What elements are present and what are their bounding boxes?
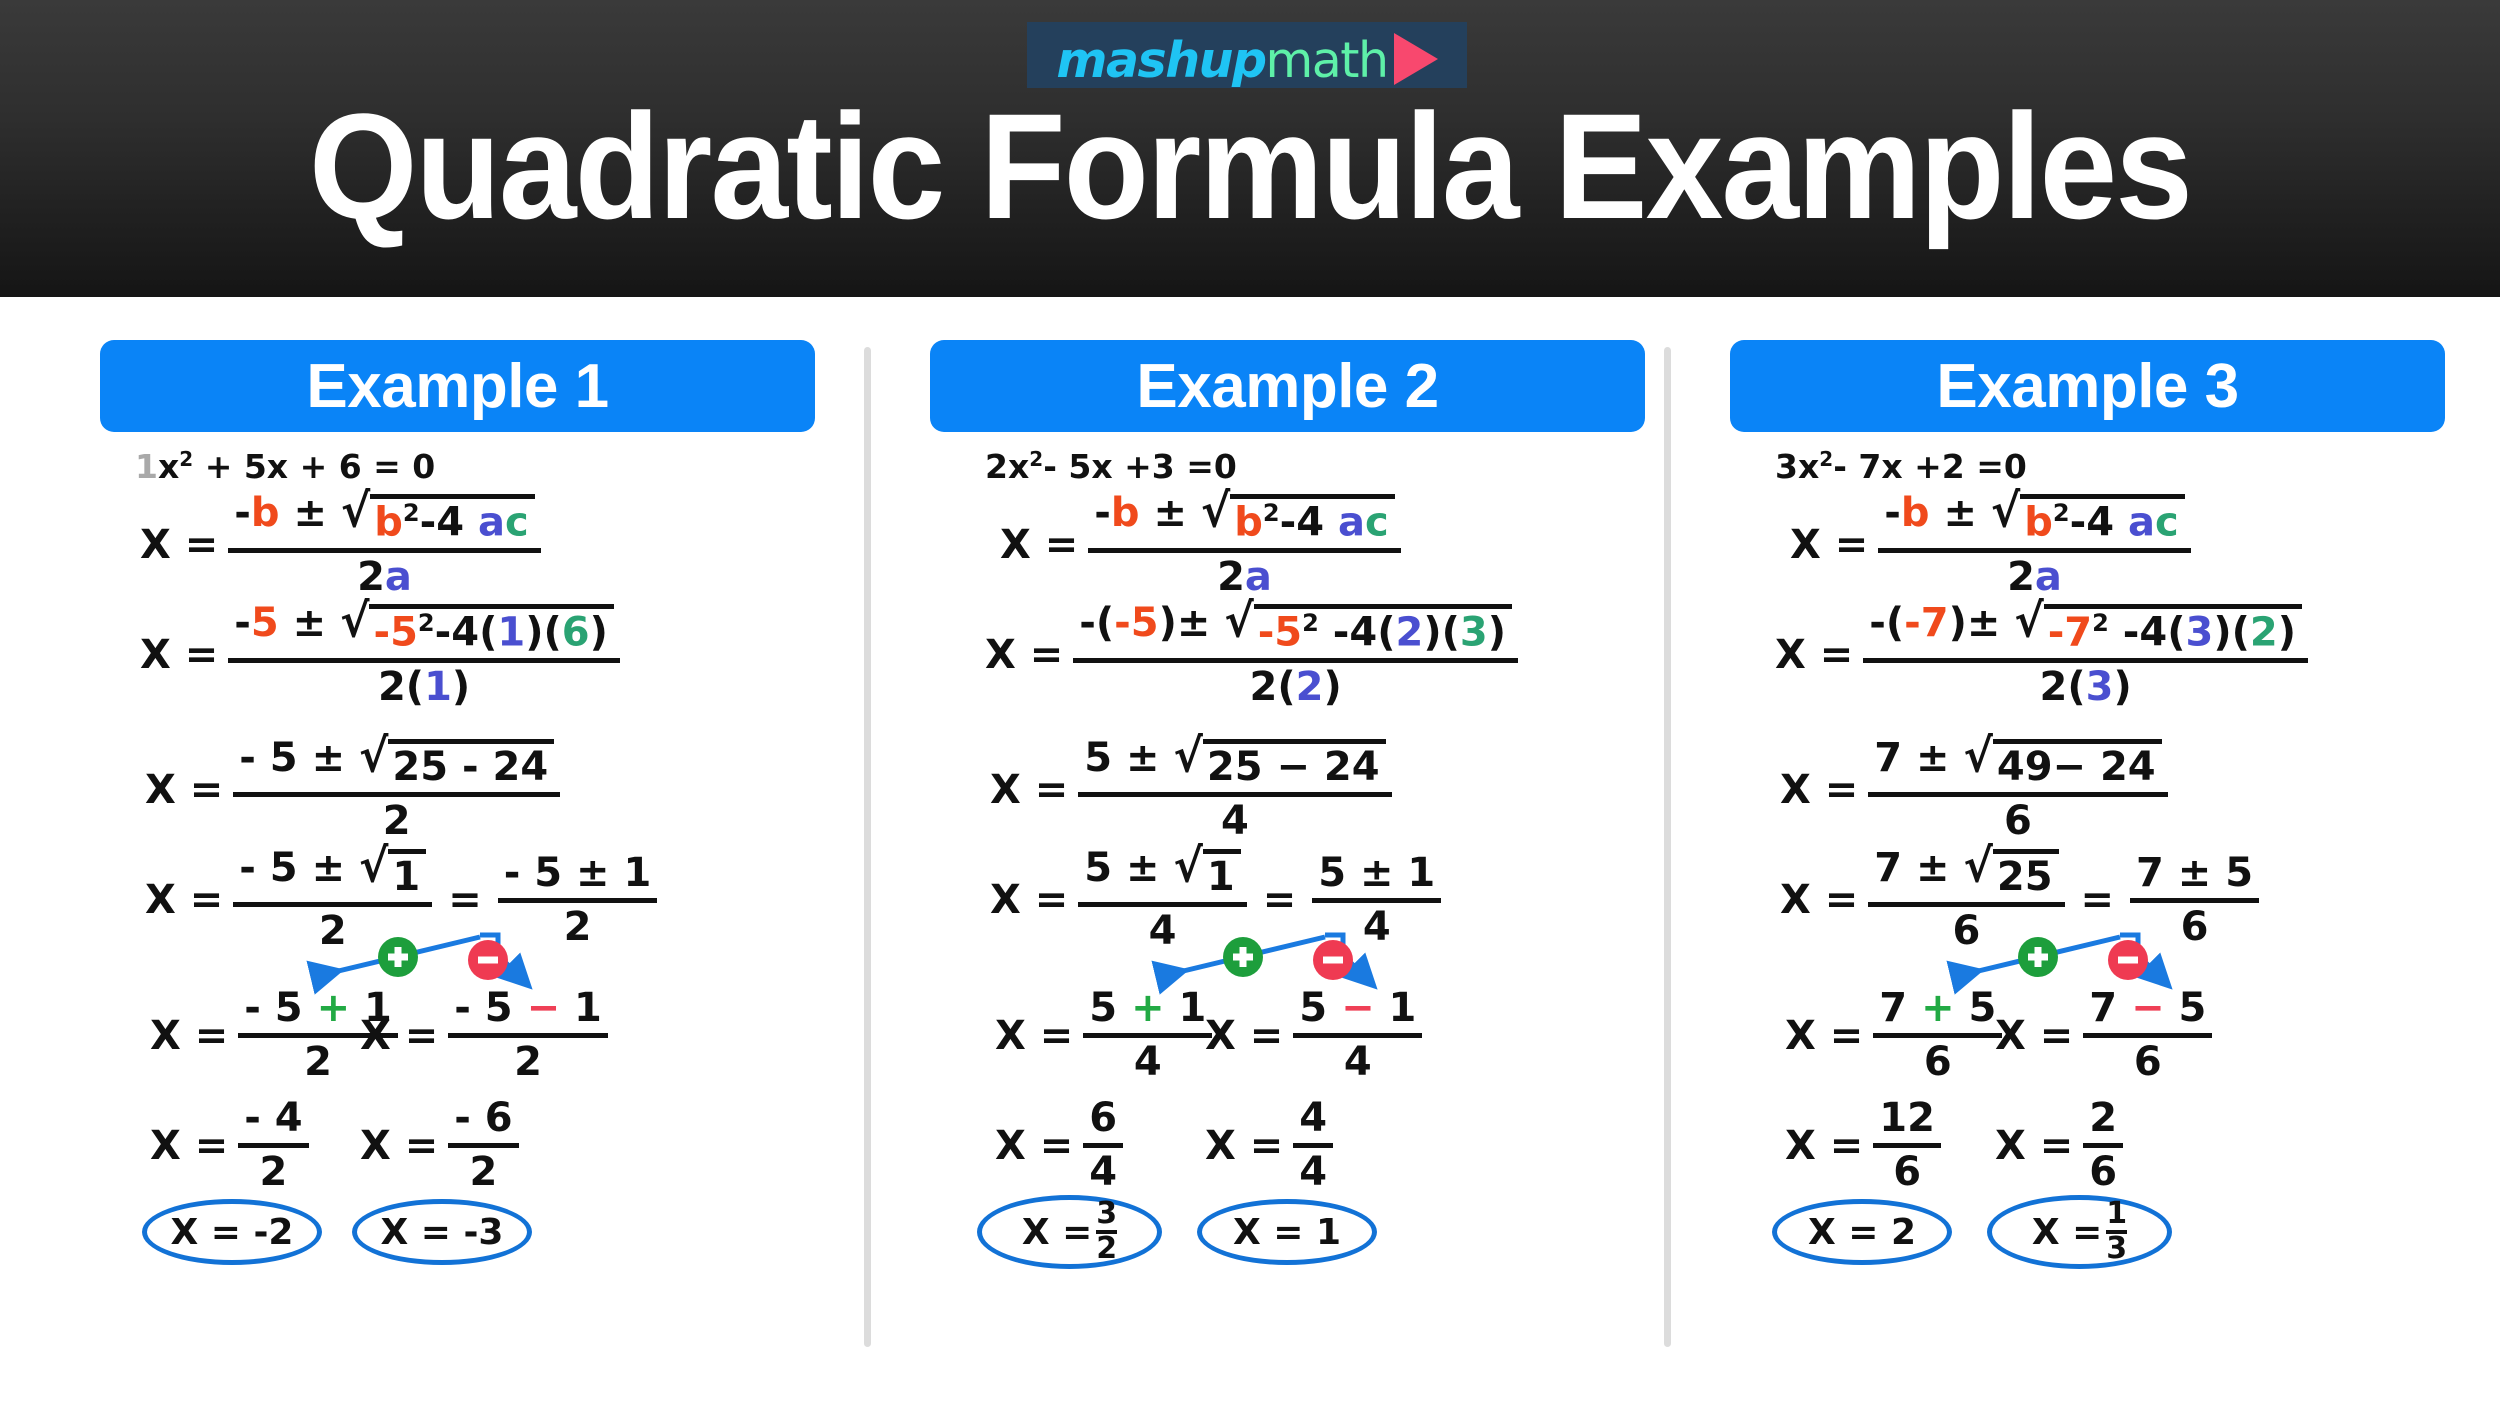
sub-rad-minus: -: [2123, 609, 2140, 655]
reduce-minus-numerator: 4: [1293, 1097, 1333, 1143]
simplify2-numerator: 5 ± 1: [1312, 852, 1441, 898]
reduce-minus-fraction: - 6 2: [448, 1097, 518, 1194]
discriminant-numerator: 7 ± √49− 24: [1868, 737, 2167, 792]
rad-var-c: c: [2155, 499, 2179, 545]
answer-plus-fraction: 3 2: [1096, 1199, 1117, 1264]
sub-den-close: ): [1324, 664, 1342, 710]
answer-minus-text: X = 1 3: [2032, 1199, 2127, 1264]
sub-den-a: 3: [2086, 664, 2114, 710]
square-root-icon: √49− 24: [1964, 737, 2162, 789]
simplify2-numerator: - 5 ± 1: [498, 852, 658, 898]
sub-den: 2(: [1250, 664, 1296, 710]
answer-frac-den: 2: [1096, 1234, 1117, 1265]
reduce-minus-numerator: 2: [2083, 1097, 2123, 1143]
example-3-formula-row: X = -b ± √b2-4 ac 2a: [1790, 492, 2191, 599]
simp-inner: 1: [1207, 854, 1235, 900]
sub-rad-sup: 2: [2092, 609, 2109, 637]
neg-sign: -: [234, 490, 251, 536]
formula-fraction: -b ± √b2-4 ac 2a: [228, 492, 540, 599]
example-3-reduce-minus: X = 2 6: [1995, 1097, 2123, 1194]
rad-var-b: b: [1234, 499, 1263, 545]
disc-pre: 5 ±: [1084, 735, 1159, 781]
coef-a: 3: [1775, 447, 1798, 486]
x-equals: X =: [1775, 632, 1853, 678]
x-term: x: [1008, 447, 1029, 486]
example-3-header[interactable]: Example 3: [1730, 340, 2445, 432]
simplify-fraction-right: - 5 ± 1 2: [498, 852, 658, 949]
simplify-fraction-left: 7 ± √25 6: [1868, 847, 2064, 953]
example-1-label: Example 1: [306, 351, 608, 422]
sub-close: ): [1949, 600, 1967, 646]
example-2-formula-row: X = -b ± √b2-4 ac 2a: [1000, 492, 1401, 599]
discriminant-fraction: 5 ± √25 − 24 4: [1078, 737, 1391, 843]
branch-minus-numerator: - 5 − 1: [448, 987, 608, 1033]
equation-rest: + 5x + 6 = 0: [205, 447, 436, 486]
plus-minus: ±: [1177, 600, 1211, 646]
var-b: b: [1111, 490, 1140, 536]
rad-minus: -: [2070, 499, 2087, 545]
sub-lead: -(: [1079, 600, 1114, 646]
example-1-answer-plus: X = -2: [142, 1199, 322, 1265]
discriminant-numerator: 5 ± √25 − 24: [1078, 737, 1391, 792]
simplify-fraction-left: 5 ± √1 4: [1078, 847, 1246, 953]
x-equals: X =: [1205, 1123, 1283, 1169]
disc-inner: 25 − 24: [1207, 744, 1380, 790]
substitute-denominator: 2(2): [1244, 663, 1348, 709]
sub-rad-close: ): [1488, 609, 1506, 655]
plus-minus: ±: [1943, 490, 1977, 536]
sub-den-a: 2: [1296, 664, 1324, 710]
reduce-plus-denominator: 2: [254, 1148, 294, 1194]
sub-rad-b: -7: [2048, 609, 2092, 655]
rad-four: 4: [1296, 499, 1324, 545]
branch-plus-numerator: 5 + 1: [1083, 987, 1212, 1033]
x-term: x: [158, 447, 179, 486]
example-3-substitute-row: X = -(-7)± √-72 -4(3)(2) 2(3): [1775, 602, 2308, 709]
example-2-reduce-plus: X = 6 4: [995, 1097, 1123, 1194]
example-2-reduce-minus: X = 4 4: [1205, 1097, 1333, 1194]
discriminant-fraction: - 5 ± √25 - 24 2: [233, 737, 560, 843]
branch-minus-fraction: 7 − 5 6: [2083, 987, 2212, 1084]
bp-a: 5: [1089, 985, 1117, 1031]
reduce-plus-numerator: 12: [1873, 1097, 1941, 1143]
discriminant-denominator: 2: [377, 797, 417, 843]
sub-rad-close: ): [2278, 609, 2296, 655]
disc-inner: 49− 24: [1997, 744, 2156, 790]
bp-op: +: [317, 985, 351, 1031]
x-equals: X =: [995, 1013, 1073, 1059]
x-term: x: [1798, 447, 1819, 486]
x-equals: X =: [145, 877, 223, 923]
example-2-equation: 2x2- 5x +3 =0: [985, 447, 1237, 486]
answer-plus-text: X = -2: [171, 1212, 294, 1253]
bm-a: - 5: [454, 985, 512, 1031]
rad-var-a: a: [1338, 499, 1365, 545]
square-root-icon: √1: [1174, 847, 1241, 899]
disc-pre: - 5 ±: [239, 735, 345, 781]
rad-exponent: 2: [1263, 499, 1280, 527]
discriminant-denominator: 6: [1998, 797, 2038, 843]
x-equals: X =: [1780, 767, 1858, 813]
sub-den-a: 1: [424, 664, 452, 710]
exponent: 2: [1819, 447, 1833, 471]
example-1-equation: 1x2 + 5x + 6 = 0: [135, 447, 435, 486]
bp-a: - 5: [244, 985, 302, 1031]
square-root-icon: √b2-4 ac: [1201, 492, 1395, 545]
x-equals: X =: [360, 1123, 438, 1169]
reduce-minus-numerator: - 6: [448, 1097, 518, 1143]
reduce-minus-fraction: 4 4: [1293, 1097, 1333, 1194]
x-equals: X =: [1995, 1123, 2073, 1169]
formula-denominator: 2a: [1211, 553, 1278, 599]
square-root-icon: √-52 -4(2)(3): [1224, 602, 1512, 655]
x-equals: X =: [985, 632, 1063, 678]
square-root-icon: √25 − 24: [1174, 737, 1386, 789]
reduce-plus-numerator: 6: [1083, 1097, 1123, 1143]
formula-numerator: -b ± √b2-4 ac: [1878, 492, 2190, 548]
sub-b-value: -5: [1114, 600, 1158, 646]
sub-rad-minus: -: [1333, 609, 1350, 655]
rad-var-c: c: [1365, 499, 1389, 545]
sub-rad-sup: 2: [418, 609, 435, 637]
example-3-label: Example 3: [1936, 351, 2238, 422]
branch-minus-denominator: 6: [2128, 1038, 2168, 1084]
plus-minus: ±: [1153, 490, 1187, 536]
sub-rad-a: 3: [2186, 609, 2214, 655]
example-1-reduce-plus: X = - 4 2: [150, 1097, 309, 1194]
plus-minus: ±: [1967, 600, 2001, 646]
logo-wordmark: mashupmath: [1056, 25, 1437, 85]
logo-mashup-text: mashup: [1056, 36, 1265, 85]
example-1-substitute-row: X = -5 ± √-52-4(1)(6) 2(1): [140, 602, 620, 709]
bm-op: −: [527, 985, 561, 1031]
example-2-simplify-row: X = 5 ± √1 4 = 5 ± 1 4: [990, 847, 1441, 953]
sub-rad-mid: )(: [1423, 609, 1460, 655]
equation-rest: - 5x +3 =0: [1043, 447, 1237, 486]
example-3-branch-minus: X = 7 − 5 6: [1995, 987, 2212, 1084]
x-equals: X =: [360, 1013, 438, 1059]
disc-inner: 25 - 24: [392, 744, 548, 790]
rad-minus: -: [1280, 499, 1297, 545]
sub-rad-mid: )(: [525, 609, 562, 655]
examples-container: Example 1 1x2 + 5x + 6 = 0 X = -b ± √b2-…: [0, 297, 2500, 1406]
substitute-fraction: -5 ± √-52-4(1)(6) 2(1): [228, 602, 620, 709]
sub-rad-sup: 2: [1302, 609, 1319, 637]
sub-rad-c: 3: [1460, 609, 1488, 655]
example-1-header[interactable]: Example 1: [100, 340, 815, 432]
simplify-denominator: 2: [313, 907, 353, 953]
sub-rad-close: ): [590, 609, 608, 655]
den-var-a: a: [385, 554, 412, 600]
logo-math-text: math: [1266, 36, 1388, 85]
square-root-icon: √1: [359, 847, 426, 899]
sub-b-value: -7: [1904, 600, 1948, 646]
bm-op: −: [2131, 985, 2165, 1031]
x-equals: X =: [140, 522, 218, 568]
reduce-plus-fraction: 6 4: [1083, 1097, 1123, 1194]
simplify-fraction-left: - 5 ± √1 2: [233, 847, 432, 953]
branch-minus-numerator: 5 − 1: [1293, 987, 1422, 1033]
bp-op: +: [1921, 985, 1955, 1031]
x-equals: X =: [1790, 522, 1868, 568]
formula-denominator: 2a: [2001, 553, 2068, 599]
exponent: 2: [1029, 447, 1043, 471]
reduce-plus-fraction: 12 6: [1873, 1097, 1941, 1194]
answer-minus-text: X = -3: [381, 1212, 504, 1253]
neg-sign: -: [1884, 490, 1901, 536]
example-2-branch-minus: X = 5 − 1 4: [1205, 987, 1422, 1084]
x-equals: X =: [150, 1123, 228, 1169]
simp-inner: 25: [1997, 854, 2053, 900]
sub-rad-minus: -: [435, 609, 452, 655]
branch-plus-fraction: 5 + 1 4: [1083, 987, 1212, 1084]
sub-den-close: ): [2114, 664, 2132, 710]
exponent: 2: [179, 447, 193, 471]
example-1-answer-minus: X = -3: [352, 1199, 532, 1265]
example-column-3: Example 3 3x2- 7x +2 =0 X = -b ± √b2-4 a…: [1690, 297, 2490, 1406]
example-2-branch-plus: X = 5 + 1 4: [995, 987, 1212, 1084]
equals-sign: =: [2081, 877, 2115, 923]
simplify2-numerator: 7 ± 5: [2130, 852, 2259, 898]
bp-a: 7: [1879, 985, 1907, 1031]
answer-frac-num: 1: [2106, 1199, 2127, 1230]
example-1-simplify-row: X = - 5 ± √1 2 = - 5 ± 1 2: [145, 847, 657, 953]
example-column-2: Example 2 2x2- 5x +3 =0 X = -b ± √b2-4 a…: [890, 297, 1690, 1406]
branch-minus-fraction: - 5 − 1 2: [448, 987, 608, 1084]
square-root-icon: √b2-4 ac: [1991, 492, 2185, 545]
neg-sign: -: [1094, 490, 1111, 536]
den-two: 2: [357, 554, 385, 600]
discriminant-fraction: 7 ± √49− 24 6: [1868, 737, 2167, 843]
answer-frac-den: 3: [2106, 1234, 2127, 1265]
simp-pre: - 5 ±: [239, 845, 345, 891]
play-triangle-icon: [1394, 33, 1438, 85]
rad-var-b: b: [374, 499, 403, 545]
plus-minus: ±: [293, 600, 327, 646]
simplify-numerator: 7 ± √25: [1868, 847, 2064, 902]
sub-rad-b: -5: [373, 609, 417, 655]
example-1-work: 1x2 + 5x + 6 = 0 X = -b ± √b2-4 ac 2a X …: [60, 447, 860, 1407]
discriminant-numerator: - 5 ± √25 - 24: [233, 737, 560, 792]
branch-plus-numerator: 7 + 5: [1873, 987, 2002, 1033]
answer-plus-label: X =: [1022, 1212, 1092, 1253]
example-3-discriminant-row: X = 7 ± √49− 24 6: [1780, 737, 2168, 843]
equation-rest: - 7x +2 =0: [1833, 447, 2027, 486]
sub-rad-mid: )(: [2213, 609, 2250, 655]
sub-rad-four: 4(: [1349, 609, 1395, 655]
simplify-numerator: - 5 ± √1: [233, 847, 432, 902]
rad-var-b: b: [2024, 499, 2053, 545]
example-2-work: 2x2- 5x +3 =0 X = -b ± √b2-4 ac 2a X =: [890, 447, 1690, 1407]
rad-exponent: 2: [403, 499, 420, 527]
example-3-branch-plus: X = 7 + 5 6: [1785, 987, 2002, 1084]
square-root-icon: √b2-4 ac: [341, 492, 535, 545]
simplify-fraction-right: 7 ± 5 6: [2130, 852, 2259, 949]
den-two: 2: [2007, 554, 2035, 600]
square-root-icon: √-72 -4(3)(2): [2014, 602, 2302, 655]
example-3-answer-minus: X = 1 3: [1987, 1195, 2172, 1269]
bp-b: 5: [1969, 985, 1997, 1031]
branch-minus-denominator: 2: [508, 1038, 548, 1084]
discriminant-denominator: 4: [1215, 797, 1255, 843]
example-column-1: Example 1 1x2 + 5x + 6 = 0 X = -b ± √b2-…: [60, 297, 860, 1406]
rad-var-a: a: [478, 499, 505, 545]
sub-lead: -(: [1869, 600, 1904, 646]
simplify2-denominator: 6: [2175, 903, 2215, 949]
branch-plus-denominator: 6: [1918, 1038, 1958, 1084]
example-3-reduce-plus: X = 12 6: [1785, 1097, 1941, 1194]
equals-sign: =: [448, 877, 482, 923]
formula-numerator: -b ± √b2-4 ac: [1088, 492, 1400, 548]
example-1-branch-minus: X = - 5 − 1 2: [360, 987, 608, 1084]
example-2-answer-minus: X = 1: [1197, 1199, 1377, 1265]
sub-rad-a: 1: [497, 609, 525, 655]
simplify-denominator: 4: [1143, 907, 1183, 953]
x-equals: X =: [1780, 877, 1858, 923]
example-3-work: 3x2- 7x +2 =0 X = -b ± √b2-4 ac 2a X =: [1690, 447, 2490, 1407]
reduce-minus-denominator: 2: [464, 1148, 504, 1194]
substitute-numerator: -(-7)± √-72 -4(3)(2): [1863, 602, 2308, 658]
reduce-plus-denominator: 4: [1083, 1148, 1123, 1194]
simplify2-denominator: 4: [1357, 903, 1397, 949]
disc-pre: 7 ±: [1874, 735, 1949, 781]
example-1-reduce-minus: X = - 6 2: [360, 1097, 519, 1194]
mashup-math-logo: mashupmath: [1027, 22, 1467, 88]
bm-op: −: [1341, 985, 1375, 1031]
answer-frac-num: 3: [1096, 1199, 1117, 1230]
rad-four: 4: [436, 499, 464, 545]
simplify-denominator: 6: [1946, 907, 1986, 953]
bp-b: 1: [1179, 985, 1207, 1031]
sub-rad-four: 4(: [2139, 609, 2185, 655]
sub-den-close: ): [452, 664, 470, 710]
simp-inner: 1: [392, 854, 420, 900]
branch-minus-fraction: 5 − 1 4: [1293, 987, 1422, 1084]
rad-four: 4: [2086, 499, 2114, 545]
simp-pre: 7 ±: [1874, 845, 1949, 891]
example-2-answer-plus: X = 3 2: [977, 1195, 1162, 1269]
sub-rad-c: 2: [2250, 609, 2278, 655]
bm-a: 7: [2089, 985, 2117, 1031]
example-1-formula-row: X = -b ± √b2-4 ac 2a: [140, 492, 541, 599]
x-equals: X =: [990, 767, 1068, 813]
reduce-plus-numerator: - 4: [238, 1097, 308, 1143]
bm-b: 5: [2179, 985, 2207, 1031]
rad-var-a: a: [2128, 499, 2155, 545]
branch-minus-denominator: 4: [1338, 1038, 1378, 1084]
sub-den: 2(: [2040, 664, 2086, 710]
rad-var-c: c: [505, 499, 529, 545]
bm-b: 1: [574, 985, 602, 1031]
bm-a: 5: [1299, 985, 1327, 1031]
coef-a: 1: [135, 447, 158, 486]
answer-minus-fraction: 1 3: [2106, 1199, 2127, 1264]
x-equals: X =: [150, 1013, 228, 1059]
simp-pre: 5 ±: [1084, 845, 1159, 891]
x-equals: X =: [995, 1123, 1073, 1169]
substitute-numerator: -(-5)± √-52 -4(2)(3): [1073, 602, 1518, 658]
x-equals: X =: [1785, 1013, 1863, 1059]
den-two: 2: [1217, 554, 1245, 600]
substitute-denominator: 2(3): [2034, 663, 2138, 709]
x-equals: X =: [1000, 522, 1078, 568]
square-root-icon: √25: [1964, 847, 2059, 899]
example-1-discriminant-row: X = - 5 ± √25 - 24 2: [145, 737, 560, 843]
den-var-a: a: [1245, 554, 1272, 600]
sub-close: ): [1159, 600, 1177, 646]
example-2-header[interactable]: Example 2: [930, 340, 1645, 432]
rad-minus: -: [420, 499, 437, 545]
sub-b-value: 5: [251, 600, 279, 646]
branch-plus-denominator: 4: [1128, 1038, 1168, 1084]
reduce-minus-denominator: 6: [2083, 1148, 2123, 1194]
formula-denominator: 2a: [351, 553, 418, 599]
formula-fraction: -b ± √b2-4 ac 2a: [1088, 492, 1400, 599]
reduce-plus-denominator: 6: [1887, 1148, 1927, 1194]
x-equals: X =: [1995, 1013, 2073, 1059]
example-2-substitute-row: X = -(-5)± √-52 -4(2)(3) 2(2): [985, 602, 1518, 709]
equals-sign: =: [1263, 877, 1297, 923]
branch-plus-denominator: 2: [298, 1038, 338, 1084]
square-root-icon: √-52-4(1)(6): [340, 602, 614, 655]
page-title: Quadratic Formula Examples: [88, 88, 2413, 246]
substitute-fraction: -(-7)± √-72 -4(3)(2) 2(3): [1863, 602, 2308, 709]
bm-b: 1: [1389, 985, 1417, 1031]
reduce-minus-fraction: 2 6: [2083, 1097, 2123, 1194]
simplify2-denominator: 2: [558, 903, 598, 949]
answer-minus-label: X =: [2032, 1212, 2102, 1253]
reduce-plus-fraction: - 4 2: [238, 1097, 308, 1194]
example-3-simplify-row: X = 7 ± √25 6 = 7 ± 5 6: [1780, 847, 2259, 953]
square-root-icon: √25 - 24: [359, 737, 554, 789]
answer-minus-text: X = 1: [1233, 1212, 1341, 1253]
x-equals: X =: [1205, 1013, 1283, 1059]
answer-plus-text: X = 3 2: [1022, 1199, 1117, 1264]
var-b: b: [251, 490, 280, 536]
bp-op: +: [1131, 985, 1165, 1031]
x-equals: X =: [145, 767, 223, 813]
den-var-a: a: [2035, 554, 2062, 600]
substitute-fraction: -(-5)± √-52 -4(2)(3) 2(2): [1073, 602, 1518, 709]
page-header: mashupmath Quadratic Formula Examples: [0, 0, 2500, 297]
rad-exponent: 2: [2053, 499, 2070, 527]
sub-lead: -: [234, 600, 251, 646]
sub-rad-c: 6: [562, 609, 590, 655]
formula-fraction: -b ± √b2-4 ac 2a: [1878, 492, 2190, 599]
sub-rad-four: 4(: [451, 609, 497, 655]
var-b: b: [1901, 490, 1930, 536]
x-equals: X =: [140, 632, 218, 678]
example-2-discriminant-row: X = 5 ± √25 − 24 4: [990, 737, 1392, 843]
answer-plus-text: X = 2: [1808, 1212, 1916, 1253]
example-3-answer-plus: X = 2: [1772, 1199, 1952, 1265]
coef-a: 2: [985, 447, 1008, 486]
example-2-label: Example 2: [1136, 351, 1438, 422]
branch-plus-fraction: 7 + 5 6: [1873, 987, 2002, 1084]
reduce-minus-denominator: 4: [1293, 1148, 1333, 1194]
simplify-numerator: 5 ± √1: [1078, 847, 1246, 902]
sub-rad-a: 2: [1396, 609, 1424, 655]
sub-den: 2(: [378, 664, 424, 710]
formula-numerator: -b ± √b2-4 ac: [228, 492, 540, 548]
x-equals: X =: [1785, 1123, 1863, 1169]
branch-minus-numerator: 7 − 5: [2083, 987, 2212, 1033]
sub-rad-b: -5: [1258, 609, 1302, 655]
plus-minus: ±: [293, 490, 327, 536]
x-equals: X =: [990, 877, 1068, 923]
substitute-numerator: -5 ± √-52-4(1)(6): [228, 602, 620, 658]
substitute-denominator: 2(1): [372, 663, 476, 709]
